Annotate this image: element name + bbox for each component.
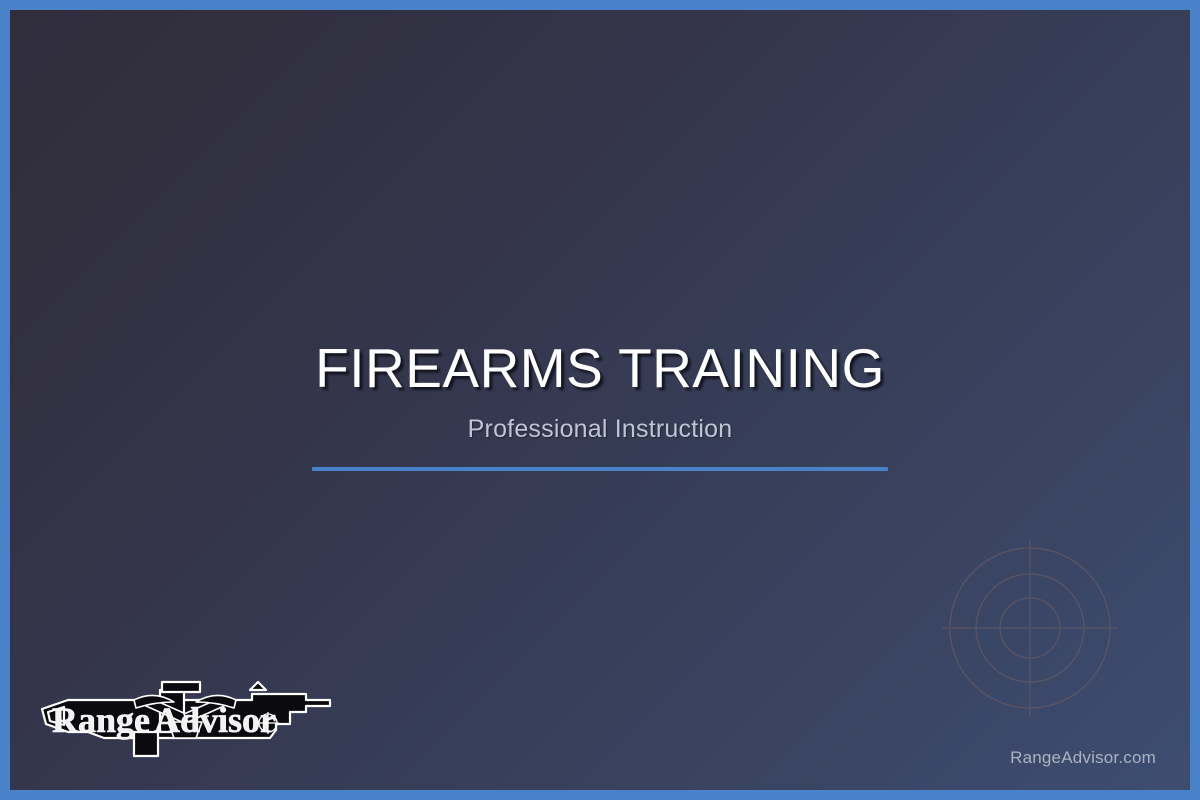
title-block: FIREARMS TRAINING Professional Instructi… xyxy=(10,340,1190,471)
accent-divider xyxy=(312,467,888,471)
title-slide: FIREARMS TRAINING Professional Instructi… xyxy=(0,0,1200,800)
page-subtitle: Professional Instruction xyxy=(10,415,1190,444)
footer-url: RangeAdvisor.com xyxy=(1010,748,1156,768)
logo-wordmark: Range Advisor xyxy=(52,700,276,740)
page-title: FIREARMS TRAINING xyxy=(10,340,1190,397)
logo-wordmark-advisor: Advisor xyxy=(154,700,276,740)
rifle-logo-icon: Range Advisor xyxy=(38,676,334,764)
logo-wordmark-range: Range xyxy=(52,700,150,740)
